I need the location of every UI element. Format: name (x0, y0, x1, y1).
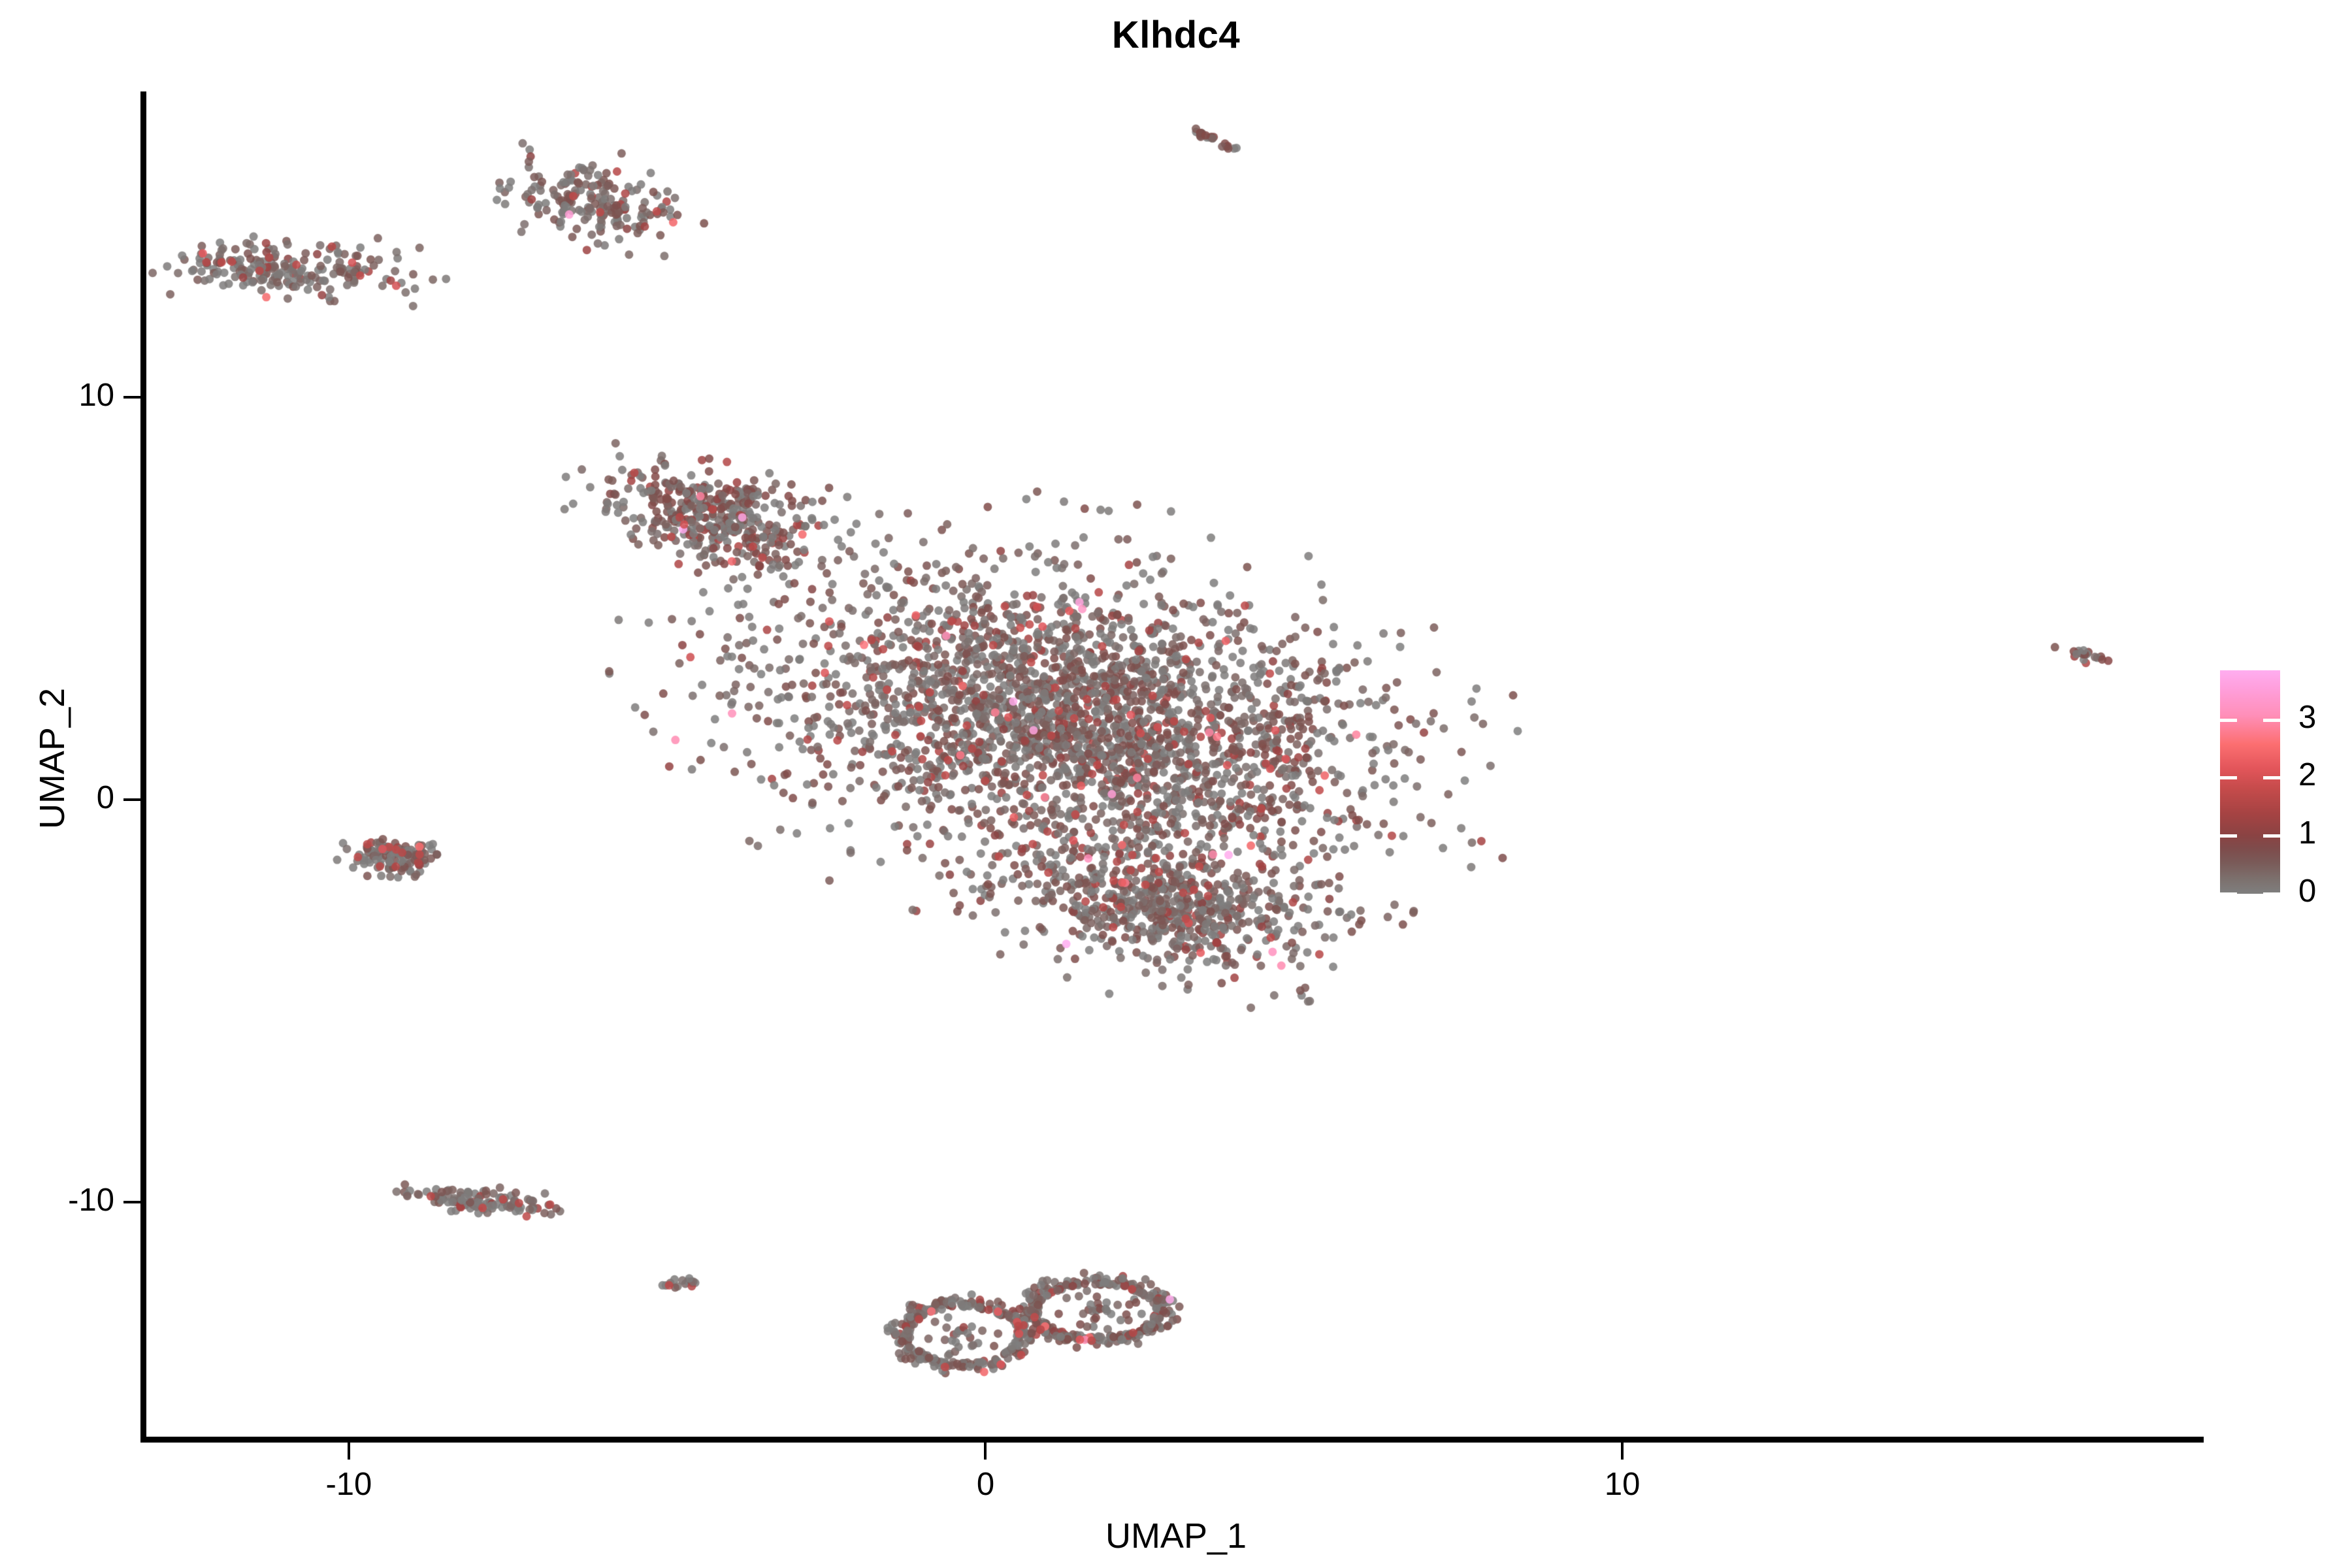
feature-plot-root: Klhdc4 -10010 100-10 UMAP_1 UMAP_2 0123 (0, 0, 2352, 1568)
colorbar-tick (2220, 776, 2237, 779)
colorbar-tick (2263, 776, 2280, 779)
colorbar-tick (2263, 892, 2280, 896)
x-tick-label: -10 (264, 1466, 434, 1503)
colorbar-tick (2220, 892, 2237, 896)
colorbar-tick (2220, 719, 2237, 722)
x-tick (984, 1443, 987, 1460)
x-tick-label: 0 (900, 1466, 1070, 1503)
y-axis-line (140, 91, 146, 1443)
y-tick (123, 1201, 140, 1203)
x-tick (1621, 1443, 1624, 1460)
y-axis-title: UMAP_2 (32, 367, 73, 1151)
colorbar-label: 2 (2298, 757, 2316, 793)
x-axis-line (140, 1437, 2204, 1443)
y-tick-label: -10 (0, 1182, 114, 1218)
colorbar-tick (2220, 834, 2237, 838)
colorbar-label: 0 (2298, 873, 2316, 909)
x-axis-title: UMAP_1 (0, 1516, 2352, 1556)
x-tick-label: 10 (1537, 1466, 1707, 1503)
x-tick (348, 1443, 350, 1460)
plot-panel[interactable] (145, 91, 2202, 1439)
colorbar-tick (2263, 834, 2280, 838)
colorbar-label: 1 (2298, 815, 2316, 851)
y-tick (123, 396, 140, 399)
colorbar-label: 3 (2298, 699, 2316, 736)
colorbar-gradient (2220, 670, 2280, 894)
colorbar-tick (2263, 719, 2280, 722)
y-tick (123, 798, 140, 801)
scatter-canvas[interactable] (145, 91, 2202, 1439)
page-title: Klhdc4 (0, 13, 2352, 57)
